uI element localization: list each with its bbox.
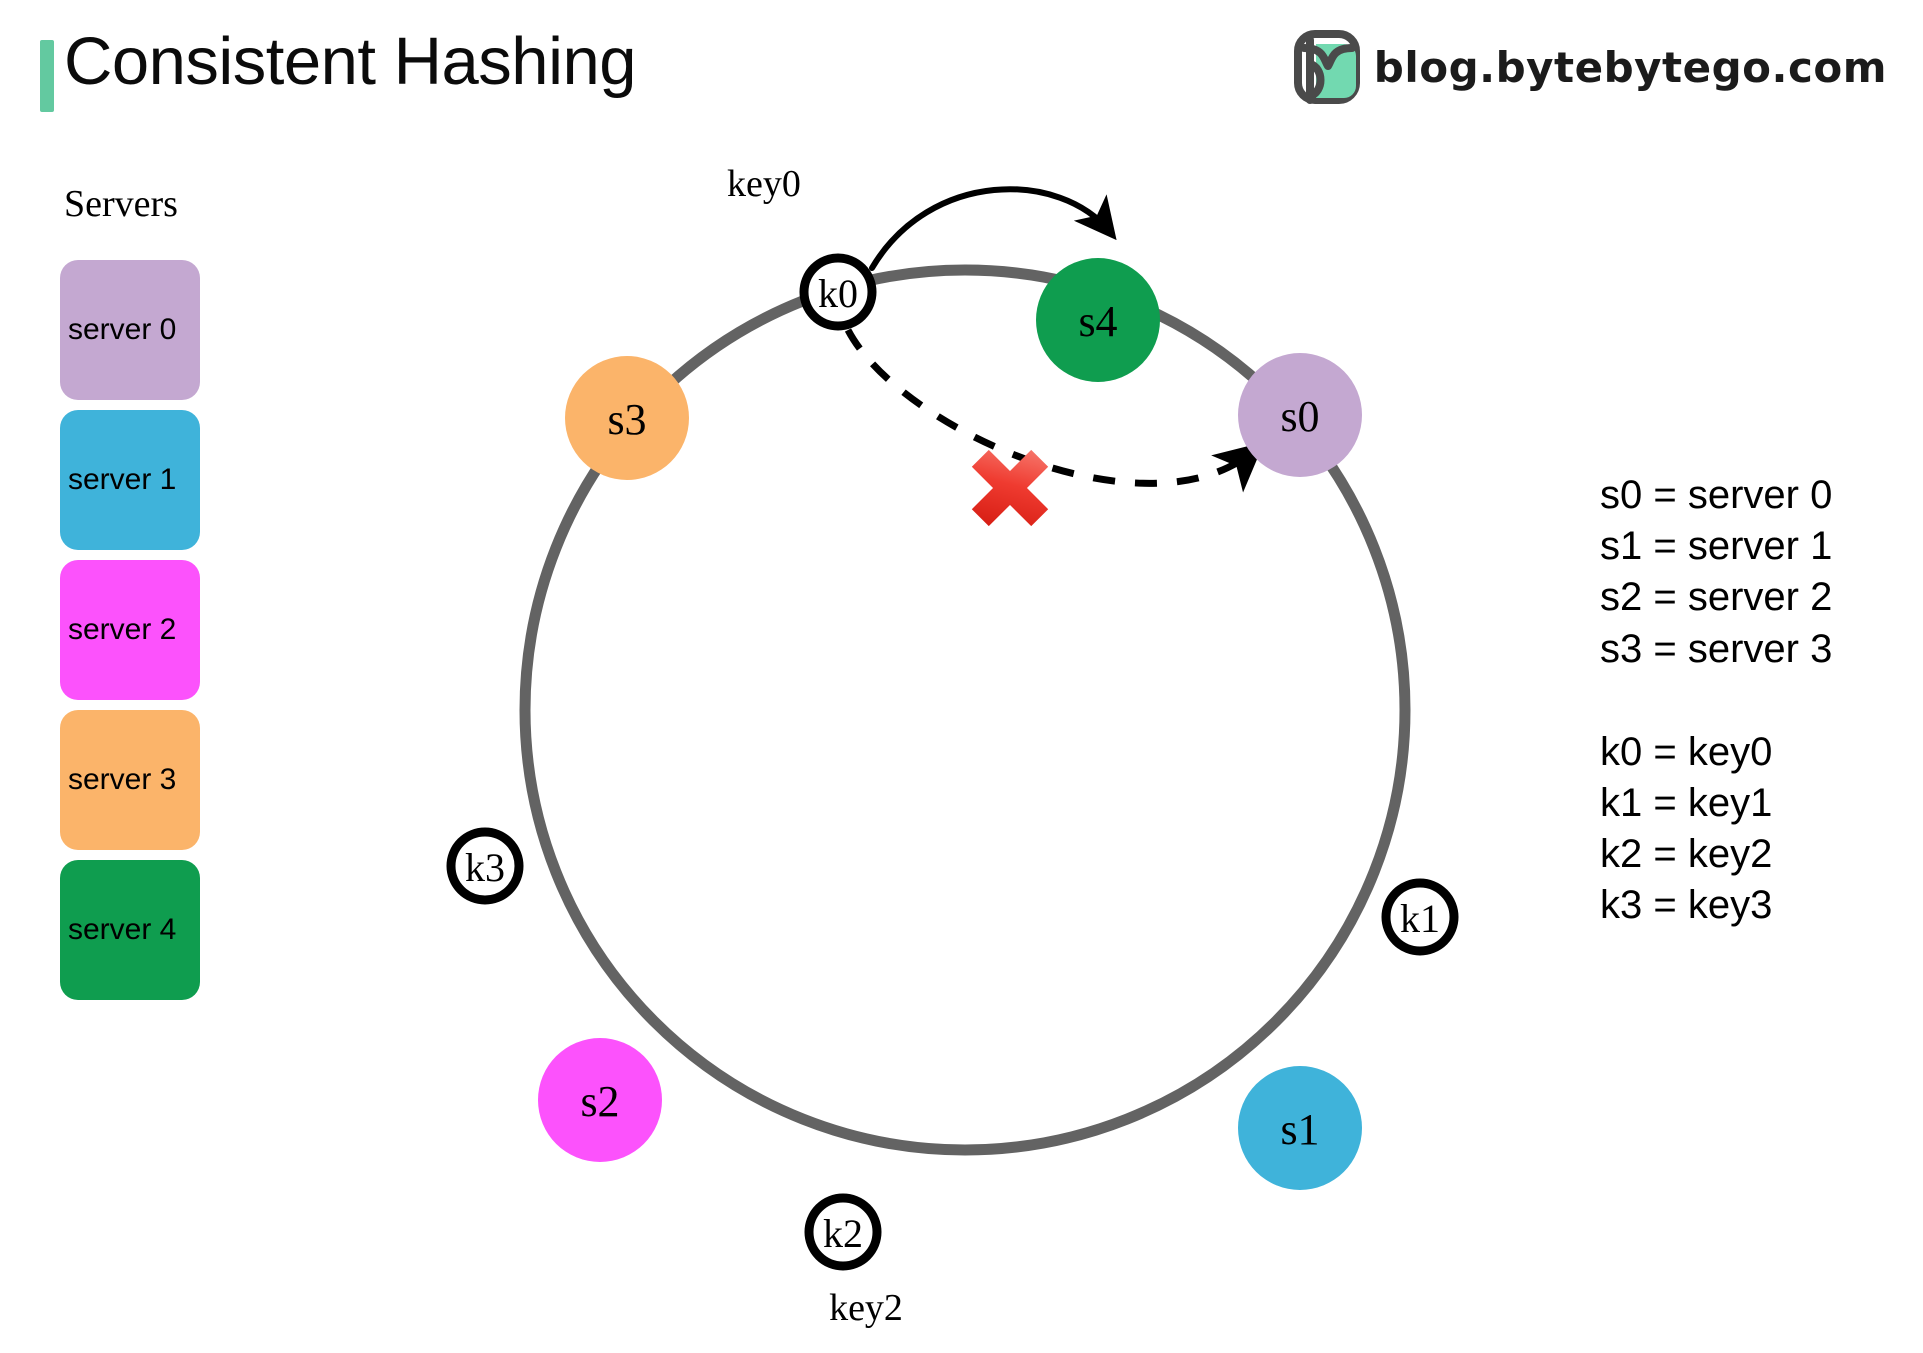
server-chip-label: server 3 bbox=[60, 763, 176, 797]
server-node-label: s0 bbox=[1280, 392, 1319, 441]
server-node-circle bbox=[1238, 1066, 1362, 1190]
routing-arrow-k0-to-s0-blocked bbox=[848, 330, 1255, 483]
legend-line: k0 = key0 bbox=[1600, 727, 1920, 778]
key-node-label: k2 bbox=[823, 1211, 863, 1256]
routing-arrow-k0-to-s4 bbox=[872, 189, 1110, 268]
legend-line: s1 = server 1 bbox=[1600, 521, 1920, 572]
server-node-s3[interactable]: s3 bbox=[565, 356, 689, 480]
brand-url-text: blog.bytebytego.com bbox=[1374, 43, 1887, 92]
key-node-circle bbox=[1386, 883, 1454, 951]
key-node-k0[interactable]: k0 bbox=[804, 258, 872, 326]
server-node-s4[interactable]: s4 bbox=[1036, 258, 1160, 382]
server-chip-label: server 0 bbox=[60, 313, 176, 347]
key-caption-key0: key0 bbox=[727, 163, 801, 205]
server-chip-label: server 4 bbox=[60, 913, 176, 947]
mapping-legend: s0 = server 0 s1 = server 1 s2 = server … bbox=[1600, 470, 1920, 984]
page-title: Consistent Hashing bbox=[64, 23, 636, 100]
server-node-s2[interactable]: s2 bbox=[538, 1038, 662, 1162]
bytebytego-logo-icon bbox=[1294, 30, 1360, 104]
key-node-circle bbox=[451, 832, 519, 900]
key-node-k2[interactable]: k2 bbox=[809, 1198, 877, 1266]
server-chip-1[interactable]: server 1 bbox=[60, 410, 200, 550]
server-node-circle bbox=[1036, 258, 1160, 382]
server-node-label: s1 bbox=[1280, 1105, 1319, 1154]
red-x-icon bbox=[951, 429, 1070, 548]
server-node-circle bbox=[565, 356, 689, 480]
title-accent-bar bbox=[40, 40, 54, 112]
legend-line: s2 = server 2 bbox=[1600, 572, 1920, 623]
legend-line: s3 = server 3 bbox=[1600, 624, 1920, 675]
key-node-k1[interactable]: k1 bbox=[1386, 883, 1454, 951]
key-node-k3[interactable]: k3 bbox=[451, 832, 519, 900]
server-chip-0[interactable]: server 0 bbox=[60, 260, 200, 400]
server-chip-2[interactable]: server 2 bbox=[60, 560, 200, 700]
server-mapping-group: s0 = server 0 s1 = server 1 s2 = server … bbox=[1600, 470, 1920, 675]
server-node-circle bbox=[1238, 353, 1362, 477]
key-node-label: k3 bbox=[465, 845, 505, 890]
server-chip-3[interactable]: server 3 bbox=[60, 710, 200, 850]
key-mapping-group: k0 = key0 k1 = key1 k2 = key2 k3 = key3 bbox=[1600, 727, 1920, 932]
server-chip-label: server 1 bbox=[60, 463, 176, 497]
hash-ring-circle bbox=[525, 270, 1405, 1150]
key-caption-key2: key2 bbox=[829, 1287, 903, 1329]
server-node-s0[interactable]: s0 bbox=[1238, 353, 1362, 477]
server-node-label: s3 bbox=[607, 395, 646, 444]
server-node-s1[interactable]: s1 bbox=[1238, 1066, 1362, 1190]
server-node-label: s2 bbox=[580, 1077, 619, 1126]
server-node-label: s4 bbox=[1078, 297, 1117, 346]
server-node-circle bbox=[538, 1038, 662, 1162]
servers-heading: Servers bbox=[64, 182, 178, 226]
server-chip-label: server 2 bbox=[60, 613, 176, 647]
key-node-circle bbox=[804, 258, 872, 326]
legend-line: k3 = key3 bbox=[1600, 880, 1920, 931]
key-node-circle bbox=[809, 1198, 877, 1266]
server-chip-4[interactable]: server 4 bbox=[60, 860, 200, 1000]
key-node-label: k0 bbox=[818, 271, 858, 316]
legend-line: s0 = server 0 bbox=[1600, 470, 1920, 521]
key-node-label: k1 bbox=[1400, 896, 1440, 941]
brand-lockup[interactable]: blog.bytebytego.com bbox=[1294, 30, 1887, 104]
legend-line: k1 = key1 bbox=[1600, 778, 1920, 829]
page-header: Consistent Hashing blog.bytebytego.com bbox=[0, 0, 1923, 140]
legend-line: k2 = key2 bbox=[1600, 829, 1920, 880]
